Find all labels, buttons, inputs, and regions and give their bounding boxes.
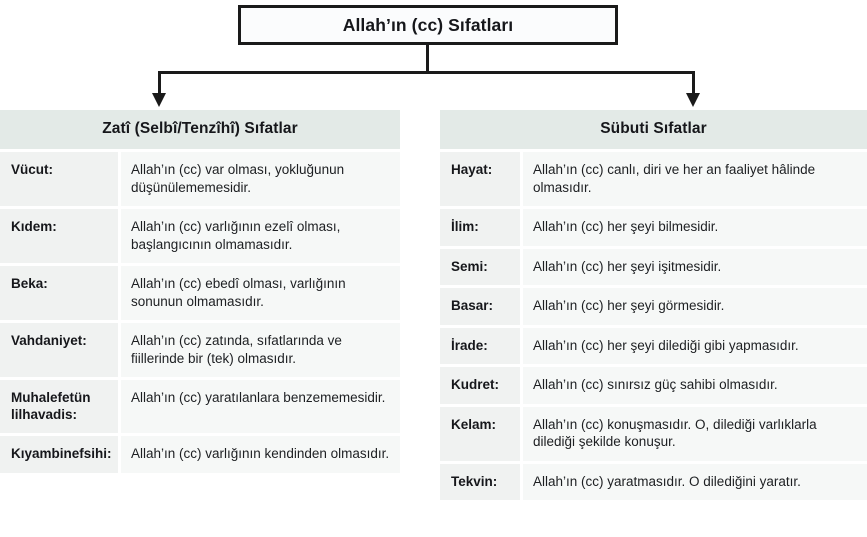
attribute-description: Allah’ın (cc) yaratılanlara benzememesid…	[118, 380, 400, 433]
table-header-subuti: Sübuti Sıfatlar	[440, 110, 867, 149]
attribute-name: Tekvin:	[440, 464, 520, 501]
root-node-allah-sifatlari: Allah’ın (cc) Sıfatları	[238, 5, 618, 45]
arrow-down-icon-left	[152, 93, 166, 107]
attribute-name: Basar:	[440, 288, 520, 325]
table-row: Kıdem: Allah’ın (cc) varlığının ezelî ol…	[0, 206, 400, 263]
table-row: Vücut: Allah’ın (cc) var olması, yokluğu…	[0, 149, 400, 206]
attribute-name: Kıyambinefsihi:	[0, 436, 118, 473]
table-zati-sifatlar: Zatî (Selbî/Tenzîhî) Sıfatlar Vücut: All…	[0, 110, 400, 473]
attribute-name: Kelam:	[440, 407, 520, 461]
attribute-description: Allah’ın (cc) canlı, diri ve her an faal…	[520, 152, 867, 206]
attribute-description: Allah’ın (cc) varlığının kendinden olmas…	[118, 436, 400, 473]
diagram-canvas: Allah’ın (cc) Sıfatları Zatî (Selbî/Tenz…	[0, 0, 867, 537]
connector-drop-left	[158, 71, 161, 95]
table-row: Kelam: Allah’ın (cc) konuşmasıdır. O, di…	[440, 404, 867, 461]
table-row: İlim: Allah’ın (cc) her şeyi bilmesidir.	[440, 206, 867, 246]
table-row: Basar: Allah’ın (cc) her şeyi görmesidir…	[440, 285, 867, 325]
attribute-name: Vücut:	[0, 152, 118, 206]
table-body-zati: Vücut: Allah’ın (cc) var olması, yokluğu…	[0, 149, 400, 473]
attribute-name: Muhalefetün lilhavadis:	[0, 380, 118, 433]
connector-stem	[426, 45, 429, 73]
attribute-description: Allah’ın (cc) her şeyi işitmesidir.	[520, 249, 867, 286]
arrow-down-icon-right	[686, 93, 700, 107]
attribute-description: Allah’ın (cc) sınırsız güç sahibi olması…	[520, 367, 867, 404]
table-row: Kıyambinefsihi: Allah’ın (cc) varlığının…	[0, 433, 400, 473]
table-row: Muhalefetün lilhavadis: Allah’ın (cc) ya…	[0, 377, 400, 433]
attribute-description: Allah’ın (cc) var olması, yokluğunun düş…	[118, 152, 400, 206]
attribute-name: Vahdaniyet:	[0, 323, 118, 377]
attribute-name: Beka:	[0, 266, 118, 320]
table-row: Beka: Allah’ın (cc) ebedî olması, varlığ…	[0, 263, 400, 320]
table-row: Kudret: Allah’ın (cc) sınırsız güç sahib…	[440, 364, 867, 404]
attribute-description: Allah’ın (cc) her şeyi görmesidir.	[520, 288, 867, 325]
table-body-subuti: Hayat: Allah’ın (cc) canlı, diri ve her …	[440, 149, 867, 500]
table-subuti-sifatlar: Sübuti Sıfatlar Hayat: Allah’ın (cc) can…	[440, 110, 867, 500]
attribute-description: Allah’ın (cc) varlığının ezelî olması, b…	[118, 209, 400, 263]
attribute-description: Allah’ın (cc) her şeyi dilediği gibi yap…	[520, 328, 867, 365]
root-node-label: Allah’ın (cc) Sıfatları	[343, 15, 514, 36]
attribute-description: Allah’ın (cc) ebedî olması, varlığının s…	[118, 266, 400, 320]
table-header-zati: Zatî (Selbî/Tenzîhî) Sıfatlar	[0, 110, 400, 149]
table-row: Vahdaniyet: Allah’ın (cc) zatında, sıfat…	[0, 320, 400, 377]
attribute-name: İlim:	[440, 209, 520, 246]
attribute-description: Allah’ın (cc) zatında, sıfatlarında ve f…	[118, 323, 400, 377]
attribute-name: Kıdem:	[0, 209, 118, 263]
connector-drop-right	[692, 71, 695, 95]
attribute-description: Allah’ın (cc) her şeyi bilmesidir.	[520, 209, 867, 246]
connector-horizontal-bar	[158, 71, 695, 74]
attribute-name: Kudret:	[440, 367, 520, 404]
attribute-description: Allah’ın (cc) konuşmasıdır. O, dilediği …	[520, 407, 867, 461]
table-row: Tekvin: Allah’ın (cc) yaratmasıdır. O di…	[440, 461, 867, 501]
attribute-name: Semi:	[440, 249, 520, 286]
attribute-name: İrade:	[440, 328, 520, 365]
table-row: Hayat: Allah’ın (cc) canlı, diri ve her …	[440, 149, 867, 206]
attribute-name: Hayat:	[440, 152, 520, 206]
table-row: Semi: Allah’ın (cc) her şeyi işitmesidir…	[440, 246, 867, 286]
table-row: İrade: Allah’ın (cc) her şeyi dilediği g…	[440, 325, 867, 365]
attribute-description: Allah’ın (cc) yaratmasıdır. O dilediğini…	[520, 464, 867, 501]
